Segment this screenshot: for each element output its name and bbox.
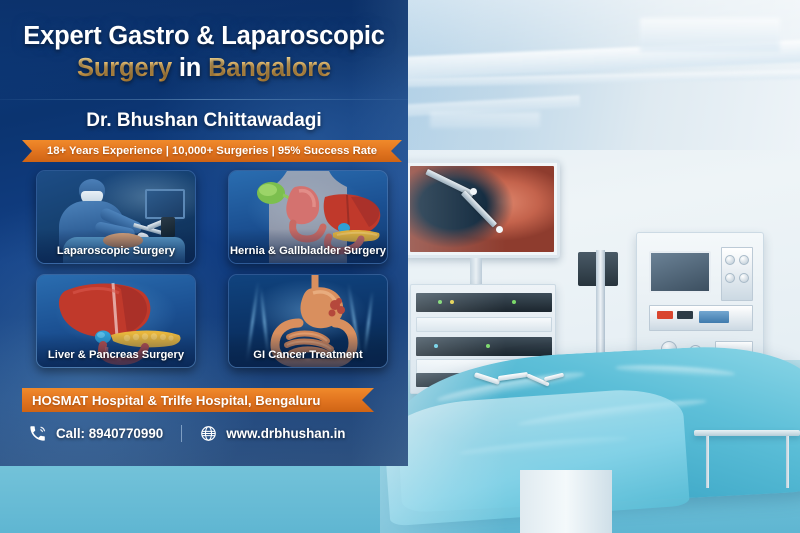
equipment-module <box>416 293 552 312</box>
headline-city-word: Bangalore <box>208 54 331 82</box>
doctor-name: Dr. Bhushan Chittawadagi <box>0 110 408 132</box>
tray-leg <box>706 436 709 488</box>
service-card-gi-cancer-treatment[interactable]: GI Cancer Treatment <box>228 274 388 368</box>
ceiling-light-panel <box>640 18 780 52</box>
contact-row: Call: 8940770990 www.drbhushan.in <box>28 420 388 446</box>
panel-divider-line <box>0 99 408 100</box>
instrument-tray <box>694 430 800 436</box>
service-card-label: GI Cancer Treatment <box>229 349 387 361</box>
globe-icon <box>200 425 217 442</box>
equipment-module <box>416 317 552 332</box>
service-card-label: Liver & Pancreas Surgery <box>37 349 195 361</box>
laparoscopic-monitor <box>404 160 560 258</box>
instrument-tip <box>496 226 503 233</box>
laparoscopic-instrument <box>461 190 497 227</box>
control-knob <box>725 255 735 265</box>
phone-label[interactable]: Call: 8940770990 <box>56 426 163 441</box>
monitor-stand <box>470 258 482 284</box>
phone-ringing-icon <box>28 424 47 443</box>
headline-line-2: Surgery in Bangalore <box>0 54 408 83</box>
service-card-label: Laparoscopic Surgery <box>37 245 195 257</box>
control-knob <box>725 273 735 283</box>
equipment-module <box>416 337 552 356</box>
hospital-text: HOSMAT Hospital & Trilfe Hospital, Benga… <box>32 393 320 408</box>
service-card-liver-pancreas-surgery[interactable]: Liver & Pancreas Surgery <box>36 274 196 368</box>
instrument-tip <box>470 188 477 195</box>
headline-block: Expert Gastro & Laparoscopic Surgery in … <box>0 22 408 83</box>
surgical-instruments <box>470 374 590 390</box>
ceiling-light-panel <box>430 112 540 128</box>
control-knob <box>739 255 749 265</box>
headline-in-word: in <box>179 54 201 82</box>
operating-table-base <box>520 470 612 533</box>
headline-line-1: Expert Gastro & Laparoscopic <box>0 22 408 51</box>
tray-leg <box>786 436 789 488</box>
headline-surgery-word: Surgery <box>77 54 172 82</box>
vitals-display <box>649 251 711 293</box>
service-card-label: Hernia & Gallbladder Surgery <box>229 245 387 257</box>
credentials-ribbon: 18+ Years Experience | 10,000+ Surgeries… <box>22 140 402 162</box>
control-knob <box>739 273 749 283</box>
contact-divider <box>181 425 182 442</box>
hospital-bar: HOSMAT Hospital & Trilfe Hospital, Benga… <box>22 388 374 412</box>
monitor-screen-endoscopic-view <box>410 166 554 252</box>
service-card-laparoscopic-surgery[interactable]: Laparoscopic Surgery <box>36 170 196 264</box>
credentials-text: 18+ Years Experience | 10,000+ Surgeries… <box>47 145 377 157</box>
services-grid: Laparoscopic Surgery <box>36 170 388 368</box>
service-card-hernia-gallbladder-surgery[interactable]: Hernia & Gallbladder Surgery <box>228 170 388 264</box>
website-label[interactable]: www.drbhushan.in <box>226 426 345 441</box>
